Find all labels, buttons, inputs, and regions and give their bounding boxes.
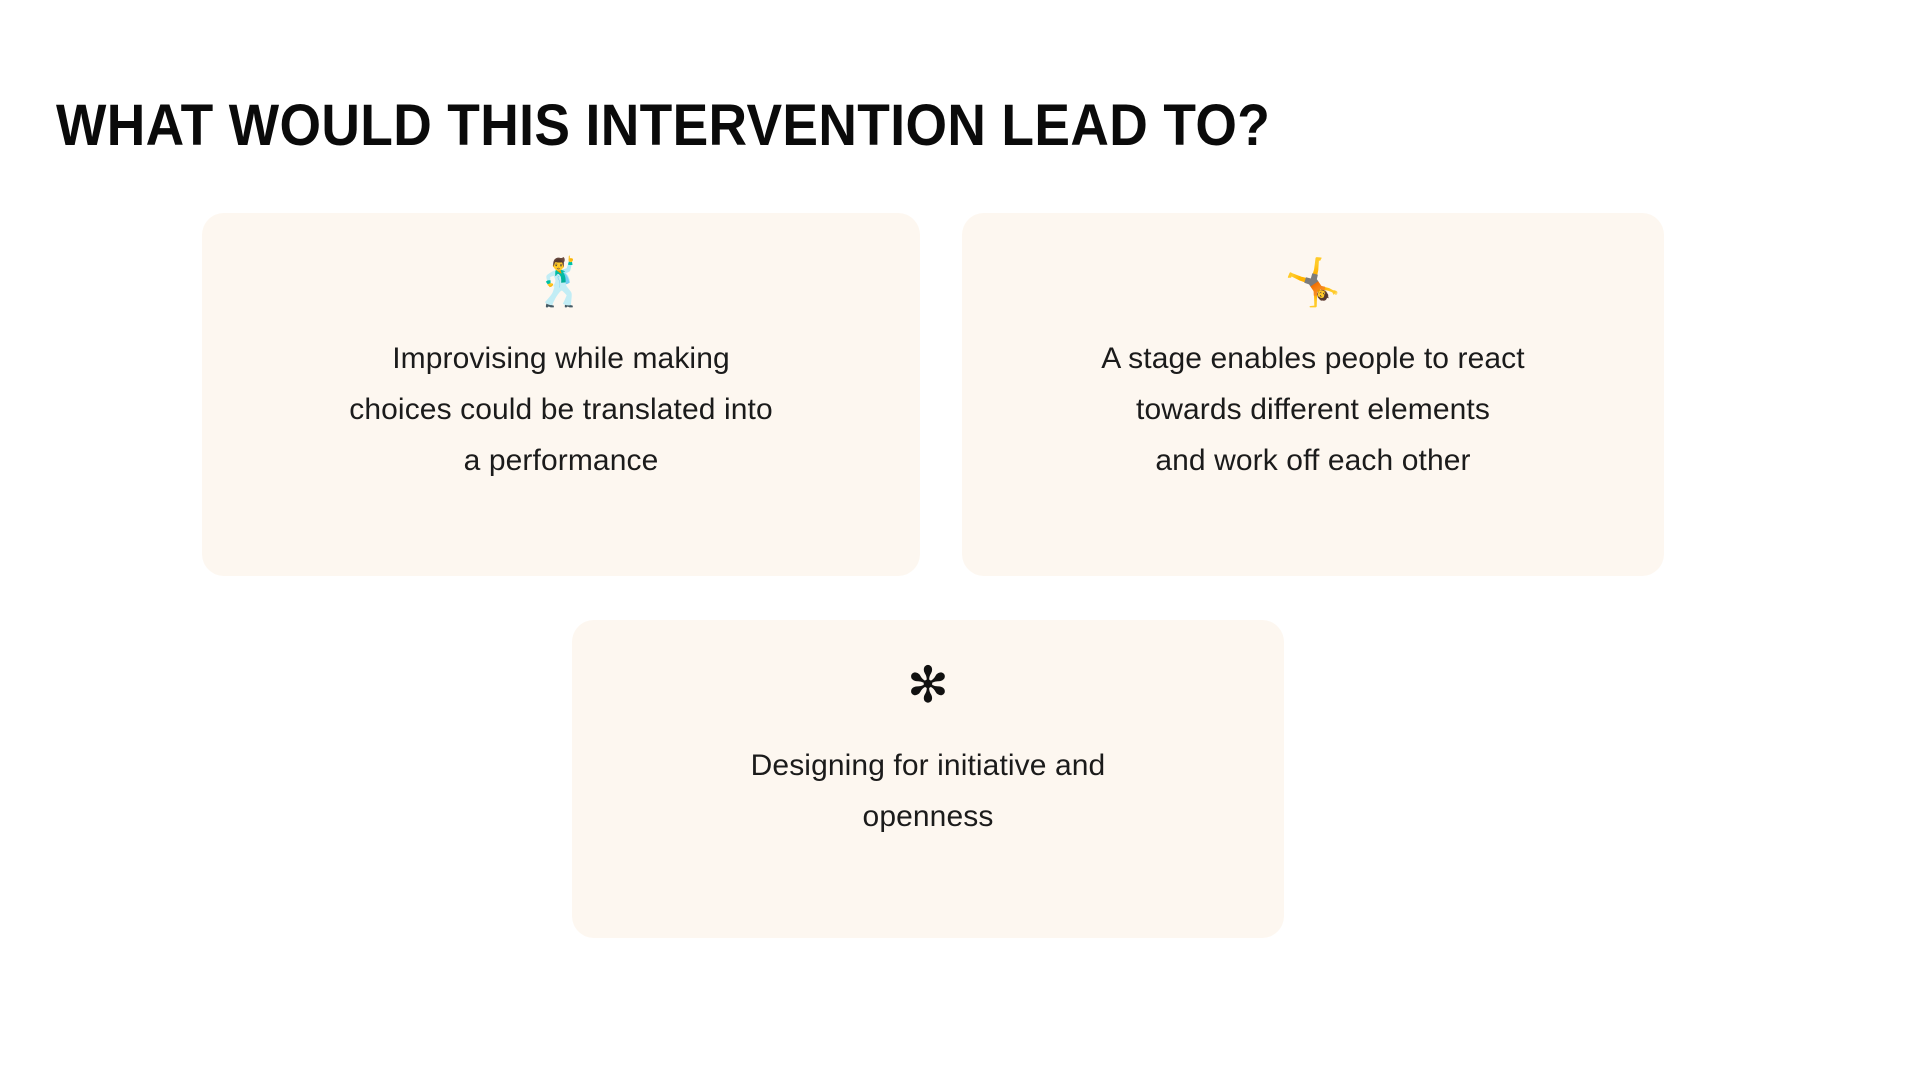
teardrop-spoked-asterisk-icon: ✻ xyxy=(907,658,949,712)
insight-card-2-text: A stage enables people to react towards … xyxy=(1067,333,1558,486)
insight-card-1[interactable]: 🕺 Improvising while making choices could… xyxy=(202,213,920,576)
person-cartwheeling-emoji: 🤸 xyxy=(1284,255,1341,309)
insight-card-3-text: Designing for initiative and openness xyxy=(717,740,1140,842)
slide-canvas: WHAT WOULD THIS INTERVENTION LEAD TO? 🕺 … xyxy=(0,0,1920,1080)
page-title: WHAT WOULD THIS INTERVENTION LEAD TO? xyxy=(56,93,1528,159)
man-dancing-emoji: 🕺 xyxy=(532,255,589,309)
insight-card-2[interactable]: 🤸 A stage enables people to react toward… xyxy=(962,213,1664,576)
insight-card-3[interactable]: ✻ Designing for initiative and openness xyxy=(572,620,1284,938)
insight-card-1-text: Improvising while making choices could b… xyxy=(315,333,806,486)
